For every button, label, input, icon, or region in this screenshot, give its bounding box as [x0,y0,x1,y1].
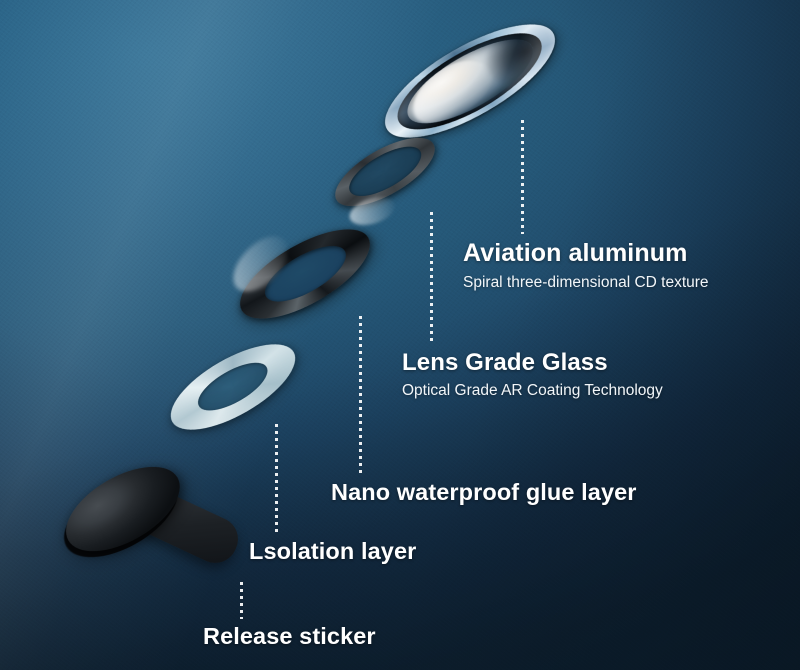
callout-aviation-aluminum: Aviation aluminum Spiral three-dimension… [463,238,713,293]
product-exploded-view-infographic: Aviation aluminum Spiral three-dimension… [0,0,800,670]
connector-isolation-layer [275,424,278,534]
callout-title-isolation-layer: Lsolation layer [249,537,416,566]
callout-title-nano-waterproof-glue-layer: Nano waterproof glue layer [331,478,637,507]
callout-release-sticker: Release sticker [203,622,376,651]
callout-isolation-layer: Lsolation layer [249,537,416,566]
callout-lens-grade-glass: Lens Grade Glass Optical Grade AR Coatin… [402,348,712,401]
callout-title-release-sticker: Release sticker [203,622,376,651]
connector-release-sticker [240,582,243,619]
callout-title-aviation-aluminum: Aviation aluminum [463,238,713,268]
callout-title-lens-grade-glass: Lens Grade Glass [402,348,712,377]
connector-nano-glue-layer [359,316,362,474]
release-sticker-disc [58,448,244,600]
callout-subtitle-lens-grade-glass: Optical Grade AR Coating Technology [402,380,712,401]
connector-aviation-aluminum [521,120,524,234]
connector-lens-grade-glass [430,212,433,344]
callout-subtitle-aviation-aluminum: Spiral three-dimensional CD texture [463,272,713,293]
callout-nano-waterproof-glue-layer: Nano waterproof glue layer [331,478,637,507]
